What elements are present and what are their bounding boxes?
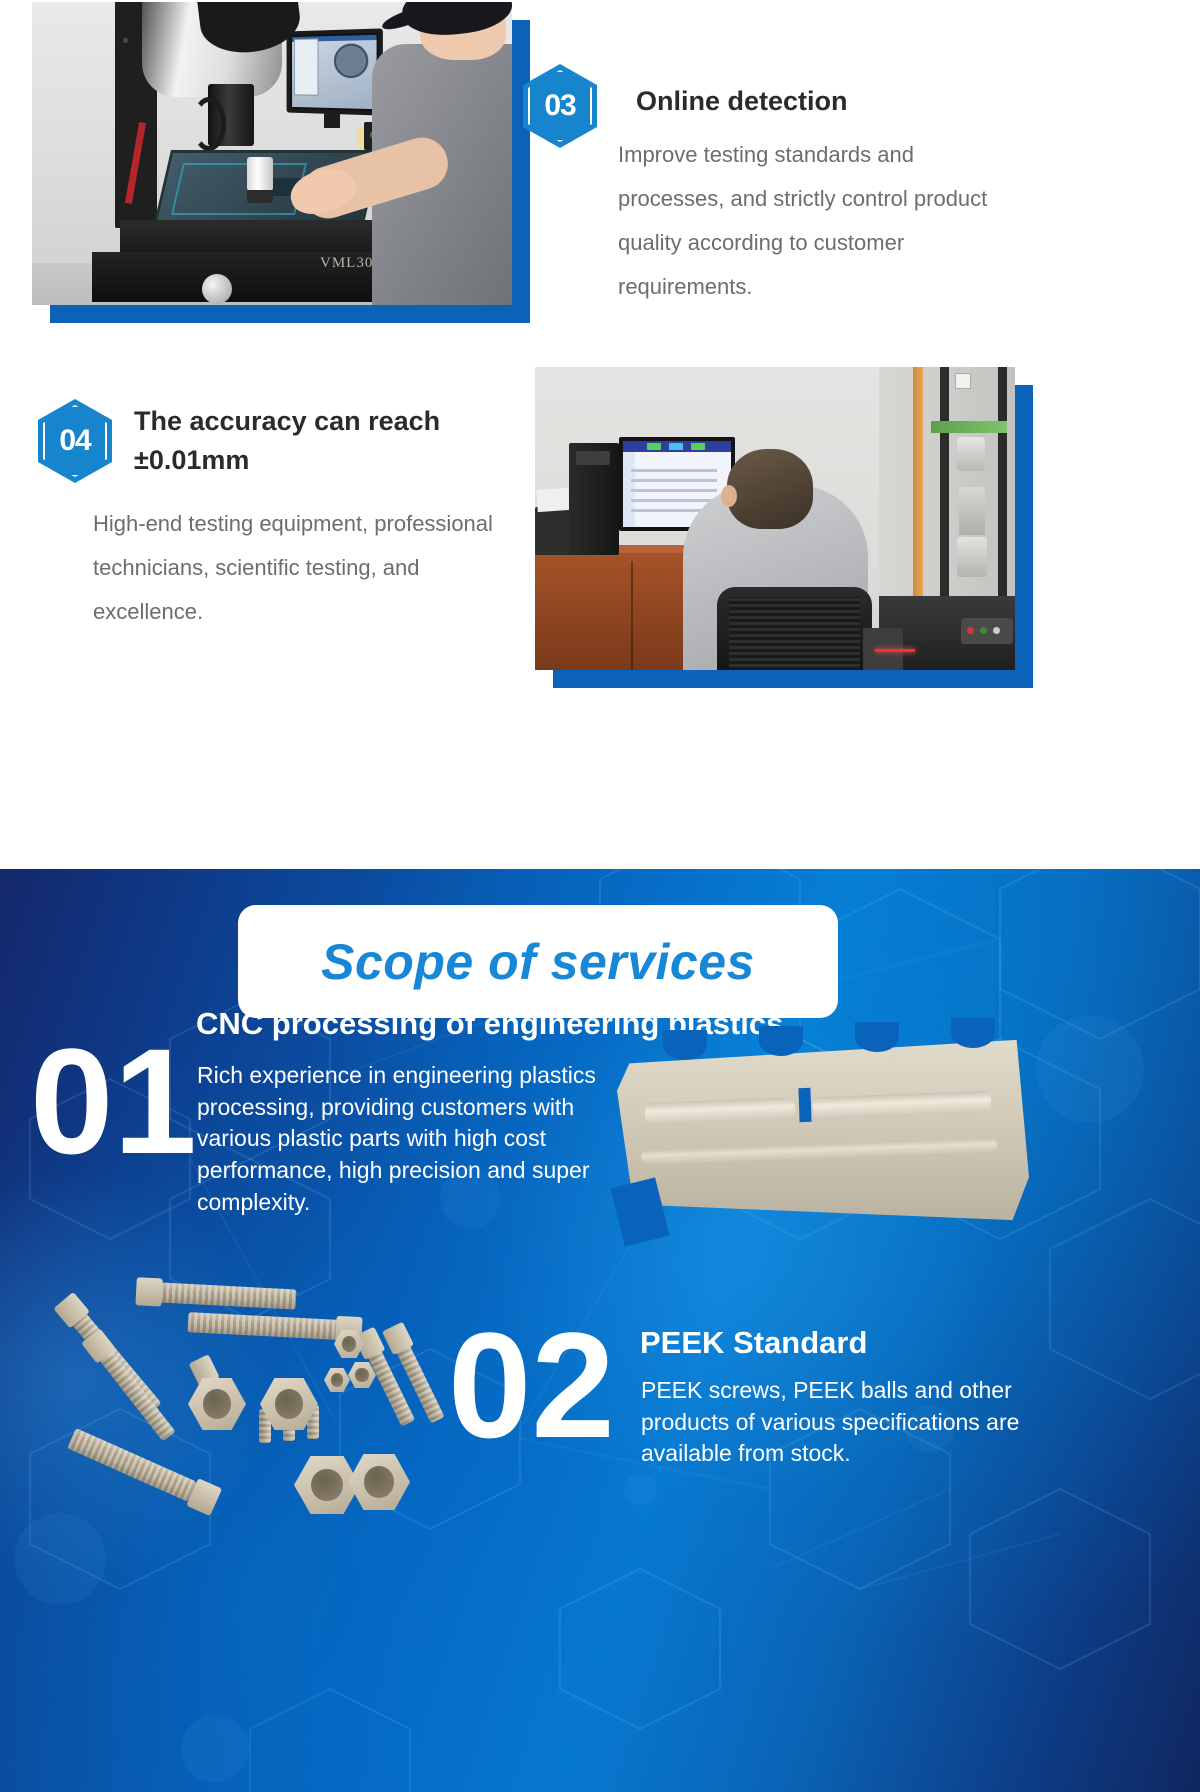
feature-03-photo-frame: VML300	[32, 2, 512, 305]
service-title-02: PEEK Standard	[640, 1324, 1040, 1361]
peek-screws-and-nuts-image	[48, 1258, 468, 1558]
peek-tile-product-image	[617, 1032, 1029, 1262]
feature-title-04: The accuracy can reach ±0.01mm	[134, 402, 514, 480]
service-body-02: PEEK screws, PEEK balls and other produc…	[641, 1375, 1041, 1470]
feature-body-04: High-end testing equipment, professional…	[93, 502, 523, 634]
features-section: VML300 03 Online detection Improve testi…	[0, 0, 1200, 869]
feature-number-03: 03	[523, 64, 597, 148]
feature-badge-03: 03	[523, 64, 597, 148]
service-number-01: 01	[30, 1026, 197, 1176]
optical-measuring-machine-photo: VML300	[32, 2, 512, 305]
tensile-testing-lab-photo	[535, 367, 1015, 670]
feature-body-03: Improve testing standards and processes,…	[618, 133, 1018, 309]
scope-heading: Scope of services	[321, 933, 755, 991]
feature-04-photo-frame	[535, 367, 1015, 670]
service-body-01: Rich experience in engineering plastics …	[197, 1060, 607, 1219]
feature-number-04: 04	[38, 399, 112, 483]
scope-title-box: Scope of services	[238, 905, 838, 1018]
service-number-02: 02	[448, 1310, 615, 1460]
feature-badge-04: 04	[38, 399, 112, 483]
marketing-infographic-page: VML300 03 Online detection Improve testi…	[0, 0, 1200, 1792]
feature-title-03: Online detection	[636, 82, 1096, 121]
